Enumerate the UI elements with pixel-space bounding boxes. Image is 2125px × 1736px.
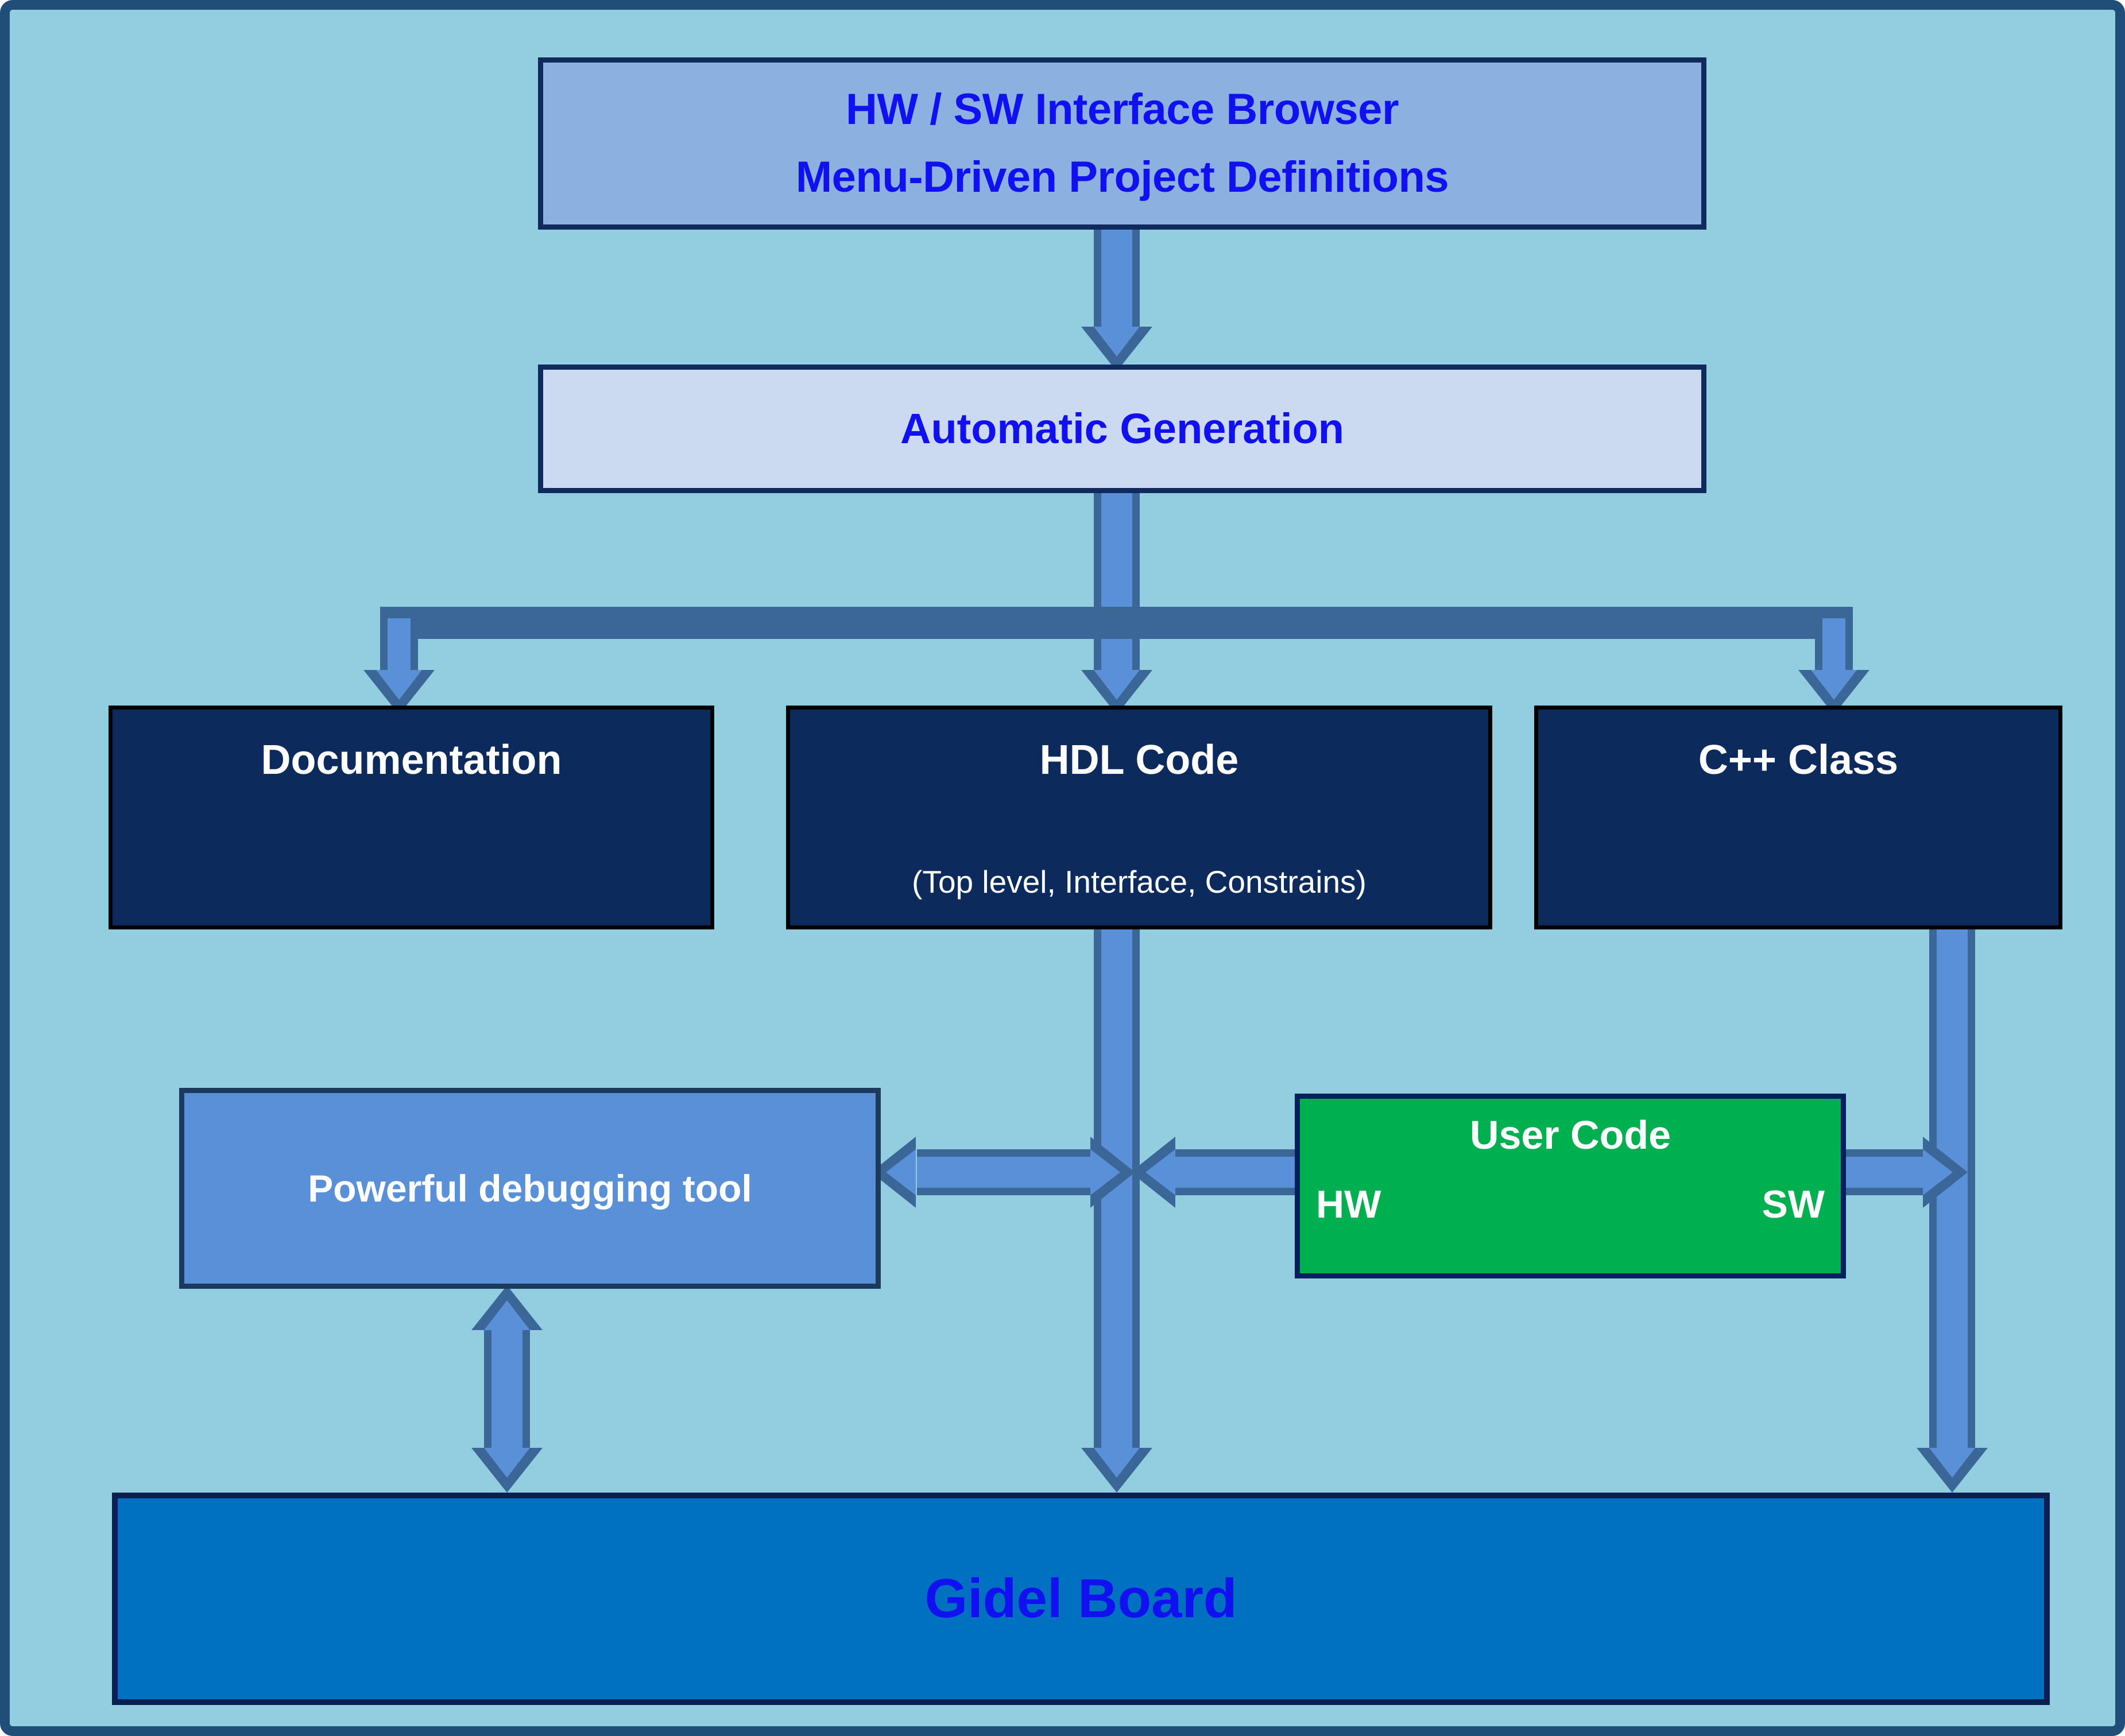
documentation-title: Documentation	[261, 739, 562, 781]
user-code-hw-label: HW	[1316, 1185, 1381, 1224]
node-user-code[interactable]: User Code HW SW	[1295, 1094, 1846, 1278]
debug-tool-title: Powerful debugging tool	[308, 1169, 752, 1207]
hdl-code-subtitle: (Top level, Interface, Constrains)	[790, 866, 1488, 898]
hdl-code-title: HDL Code	[1040, 739, 1239, 781]
automatic-generation-label: Automatic Generation	[900, 408, 1344, 450]
box-layer: HW / SW Interface Browser Menu-Driven Pr…	[10, 10, 2115, 1726]
interface-browser-line1: HW / SW Interface Browser	[846, 88, 1399, 131]
gidel-board-title: Gidel Board	[924, 1571, 1237, 1626]
node-documentation[interactable]: Documentation	[109, 706, 714, 929]
cpp-class-title: C++ Class	[1698, 739, 1898, 781]
node-interface-browser[interactable]: HW / SW Interface Browser Menu-Driven Pr…	[538, 57, 1706, 230]
diagram-canvas: HW / SW Interface Browser Menu-Driven Pr…	[0, 0, 2125, 1736]
node-cpp-class[interactable]: C++ Class	[1534, 706, 2062, 929]
node-hdl-code[interactable]: HDL Code (Top level, Interface, Constrai…	[786, 706, 1492, 929]
node-gidel-board[interactable]: Gidel Board	[112, 1493, 2050, 1705]
user-code-sw-label: SW	[1762, 1185, 1825, 1224]
interface-browser-line2: Menu-Driven Project Definitions	[796, 156, 1449, 199]
node-automatic-generation[interactable]: Automatic Generation	[538, 365, 1706, 493]
user-code-title: User Code	[1470, 1115, 1671, 1155]
node-debug-tool[interactable]: Powerful debugging tool	[179, 1088, 881, 1289]
